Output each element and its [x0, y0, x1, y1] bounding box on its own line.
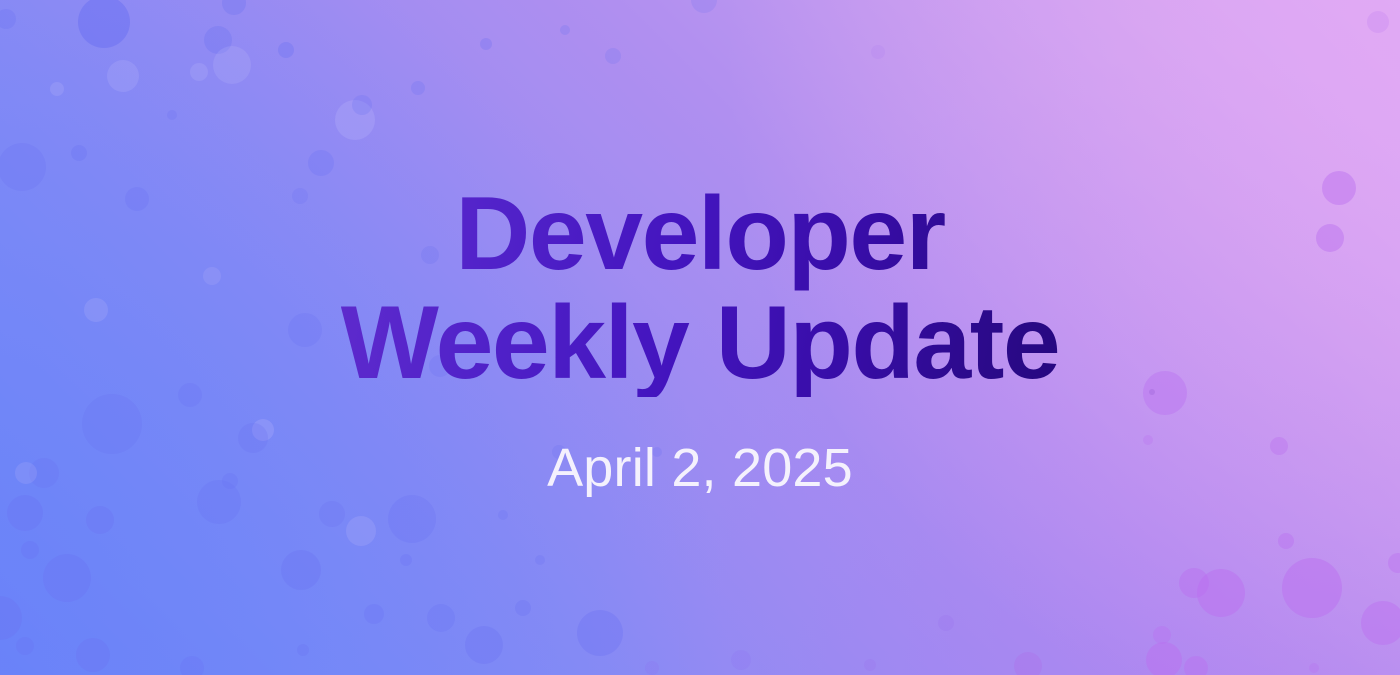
weekly-update-banner: DeveloperWeekly Update April 2, 2025: [0, 0, 1400, 675]
page-title-line-2: Weekly Update: [341, 285, 1059, 401]
page-title-line-1: Developer: [455, 176, 944, 292]
banner-date: April 2, 2025: [547, 441, 853, 495]
banner-content: DeveloperWeekly Update April 2, 2025: [0, 0, 1400, 675]
page-title: DeveloperWeekly Update: [341, 180, 1059, 396]
